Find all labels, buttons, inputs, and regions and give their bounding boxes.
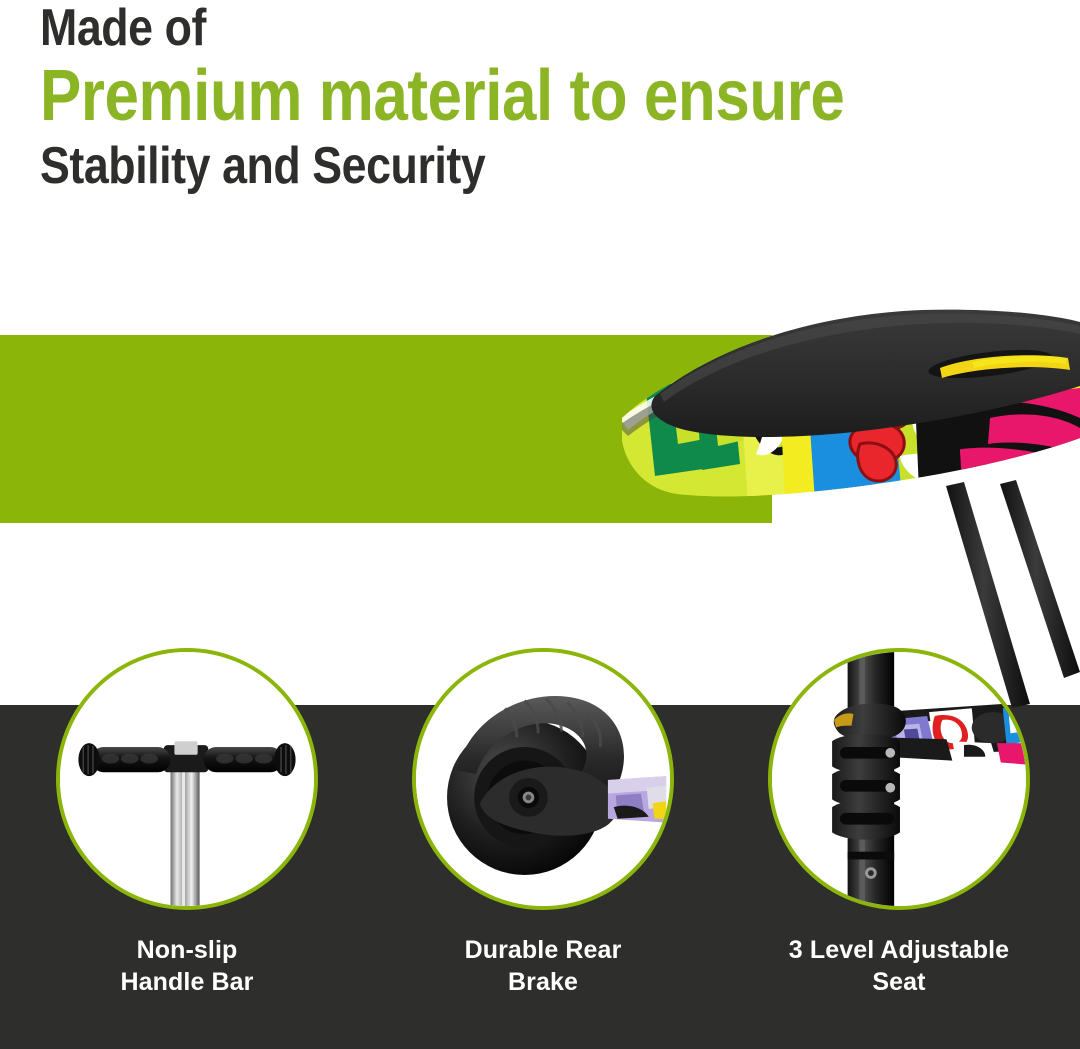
adjustable-seat-clamp-icon: [772, 652, 1026, 906]
feature-circle-2: [412, 648, 674, 910]
feature-caption-1-line-2: Handle Bar: [56, 966, 318, 998]
feature-item-handlebar: Non-slip Handle Bar: [56, 648, 318, 998]
feature-circle-3: [768, 648, 1030, 910]
feature-item-adjustable-seat: 3 Level Adjustable Seat: [768, 648, 1064, 998]
feature-caption-3: 3 Level Adjustable Seat: [734, 934, 1064, 998]
headline-line-1: Made of: [40, 2, 926, 54]
feature-item-rear-brake: Durable Rear Brake: [412, 648, 674, 998]
feature-caption-1: Non-slip Handle Bar: [56, 934, 318, 998]
feature-caption-2-line-2: Brake: [412, 966, 674, 998]
infographic-canvas: Made of Premium material to ensure Stabi…: [0, 0, 1080, 1049]
feature-caption-2-line-1: Durable Rear: [412, 934, 674, 966]
rear-brake-wheel-icon: [416, 652, 670, 906]
headline-line-3: Stability and Security: [40, 140, 926, 192]
feature-caption-3-line-1: 3 Level Adjustable: [734, 934, 1064, 966]
headline-line-2: Premium material to ensure: [40, 60, 926, 132]
feature-caption-3-line-2: Seat: [734, 966, 1064, 998]
feature-circle-1: [56, 648, 318, 910]
headline-block: Made of Premium material to ensure Stabi…: [40, 2, 1070, 192]
handlebar-icon: [60, 652, 314, 906]
graffiti-deck: [881, 702, 1026, 766]
feature-caption-1-line-1: Non-slip: [56, 934, 318, 966]
feature-caption-2: Durable Rear Brake: [412, 934, 674, 998]
